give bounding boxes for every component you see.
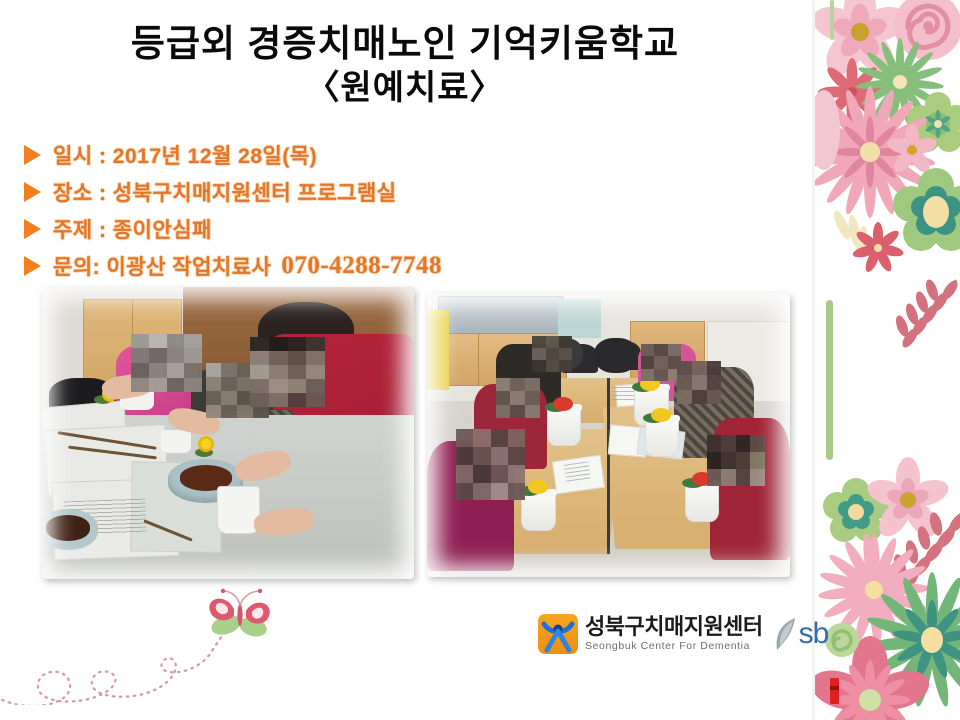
flower-pot [161, 430, 191, 453]
pixelated-face [677, 361, 721, 404]
sb-feather-icon [773, 616, 797, 652]
flower-pot [217, 486, 260, 535]
person-yellow-shirt [427, 310, 449, 390]
worksheet-text [564, 462, 592, 485]
worksheet-text [612, 387, 634, 401]
bullet-text-contact: 문의: 이광산 작업치료사 [53, 251, 271, 281]
potting-soil [46, 515, 91, 541]
pixelated-face [707, 435, 765, 486]
triangle-bullet-icon [24, 256, 41, 276]
bullet-item-topic: 주제 : 종이안심패 [24, 210, 784, 247]
slide-title: 등급외 경증치매노인 기억키움학교 〈원예치료〉 [40, 22, 770, 108]
triangle-bullet-icon [24, 219, 41, 239]
logo-name-english: Seongbuk Center For Dementia [585, 641, 763, 652]
activity-photo-1 [42, 287, 414, 579]
photo-2-scene [427, 293, 790, 577]
bullet-text-topic: 주제 : 종이안심패 [53, 214, 212, 244]
person-far [594, 338, 638, 372]
potted-plant [685, 483, 720, 522]
organization-logo: 성북구치매지원센터 Seongbuk Center For Dementia s… [538, 614, 828, 654]
triangle-bullet-icon [24, 145, 41, 165]
green-wall-panel [558, 299, 602, 339]
triangle-bullet-icon [24, 182, 41, 202]
pixelated-face [250, 337, 324, 407]
yellow-bloom [651, 408, 671, 422]
logo-name-korean: 성북구치매지원센터 [585, 616, 763, 638]
bullet-item-contact: 문의: 이광산 작업치료사 070-4288-7748 [24, 247, 784, 284]
yellow-bloom [528, 480, 548, 494]
pixelated-face [532, 336, 572, 373]
sb-logo-text: sb [799, 617, 829, 651]
potted-plant [645, 418, 680, 457]
butterfly-icon [209, 589, 270, 640]
title-line-1: 등급외 경증치매노인 기억키움학교 [40, 22, 770, 66]
contact-phone-number: 070-4288-7748 [281, 252, 442, 280]
sb-mark: sb [773, 616, 829, 652]
red-bloom [553, 397, 573, 411]
potted-plant [547, 407, 582, 446]
bullet-item-date: 일시 : 2017년 12월 28일(목) [24, 136, 784, 173]
pixelated-face [641, 344, 681, 381]
pixelated-face [496, 378, 540, 418]
pixelated-face [131, 334, 202, 392]
pixelated-face [456, 429, 525, 500]
activity-photo-2 [427, 293, 790, 577]
seongbuk-logo-mark-icon [538, 614, 578, 654]
photo-1-scene [42, 287, 414, 579]
bullet-text-date: 일시 : 2017년 12월 28일(목) [53, 140, 317, 170]
presentation-slide: 등급외 경증치매노인 기억키움학교 〈원예치료〉 일시 : 2017년 12월 … [0, 0, 960, 720]
title-line-2: 〈원예치료〉 [40, 68, 770, 109]
info-bullet-list: 일시 : 2017년 12월 28일(목) 장소 : 성북구치매지원센터 프로그… [24, 136, 784, 284]
floral-border-decoration [812, 0, 960, 720]
logo-text-block: 성북구치매지원센터 Seongbuk Center For Dementia [585, 616, 763, 652]
bullet-item-location: 장소 : 성북구치매지원센터 프로그램실 [24, 173, 784, 210]
table-gap [607, 378, 610, 554]
butterfly-decoration [0, 585, 290, 705]
potted-plant [521, 492, 556, 531]
window [438, 296, 563, 335]
butterfly-trail [0, 617, 238, 705]
bullet-text-location: 장소 : 성북구치매지원센터 프로그램실 [53, 177, 397, 207]
